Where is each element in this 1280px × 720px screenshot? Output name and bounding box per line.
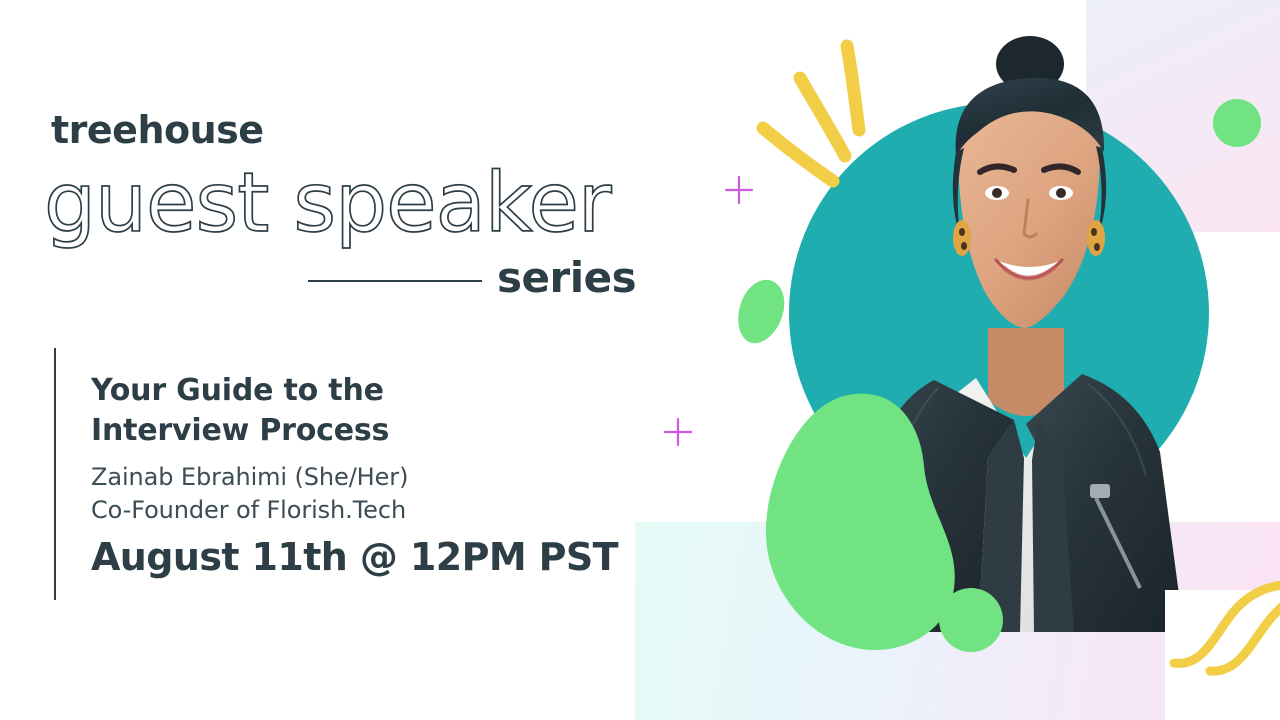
speaker-info: Zainab Ebrahimi (She/Her) Co-Founder of … — [91, 461, 408, 527]
vertical-accent-rule — [54, 348, 56, 600]
headline-outline-text: guest speaker — [44, 163, 611, 245]
series-divider-rule — [308, 280, 482, 282]
yellow-stroke-group-bottom — [1166, 575, 1280, 685]
slide-canvas: treehouse guest speaker series Your Guid… — [0, 0, 1280, 720]
green-blob-small-icon — [736, 278, 792, 348]
green-circle-icon — [1212, 98, 1262, 148]
plus-icon — [724, 175, 754, 205]
plus-icon — [663, 417, 693, 447]
brand-wordmark: treehouse — [51, 111, 264, 149]
talk-title: Your Guide to the Interview Process — [91, 371, 389, 450]
green-circle-icon — [938, 587, 1004, 653]
yellow-stroke-icon — [763, 128, 833, 181]
green-blob-large-icon — [762, 392, 962, 654]
series-label: series — [497, 257, 636, 299]
event-datetime: August 11th @ 12PM PST — [91, 538, 618, 576]
